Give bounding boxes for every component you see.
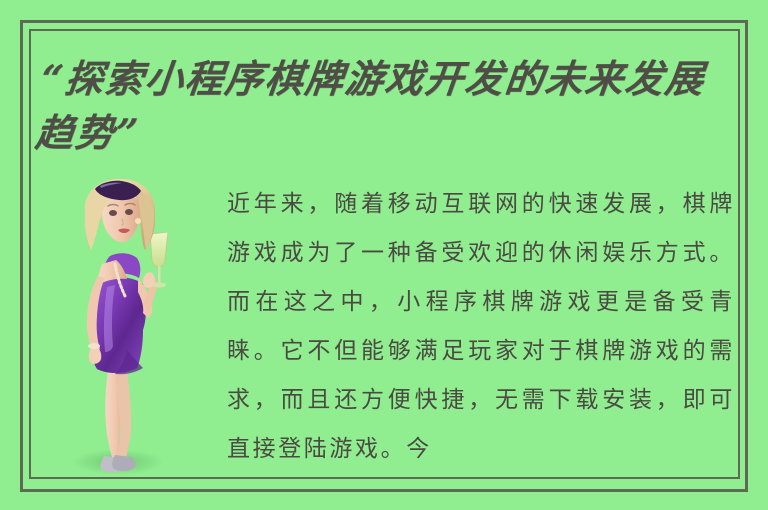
right-eye (125, 209, 133, 215)
champagne-glass (150, 232, 168, 267)
article-body-paragraph: 近年来，随着移动互联网的快速发展，棋牌游戏成为了一种备受欢迎的休闲娱乐方式。而在… (227, 180, 735, 474)
earring (135, 218, 141, 224)
article-card: “探索小程序棋牌游戏开发的未来发展趋势” (0, 0, 768, 510)
right-shoe (112, 455, 135, 471)
left-eye (109, 210, 117, 216)
page-title: “探索小程序棋牌游戏开发的未来发展趋势” (33, 52, 734, 160)
glass-stem (158, 266, 161, 284)
body-copy: 近年来，随着移动互联网的快速发展，棋牌游戏成为了一种备受欢迎的休闲娱乐方式。而在… (227, 180, 735, 474)
bracelet (88, 343, 100, 349)
glass-base (152, 283, 166, 288)
title-block: “探索小程序棋牌游戏开发的未来发展趋势” (44, 52, 734, 160)
woman-with-champagne-glass-illustration (55, 172, 205, 484)
